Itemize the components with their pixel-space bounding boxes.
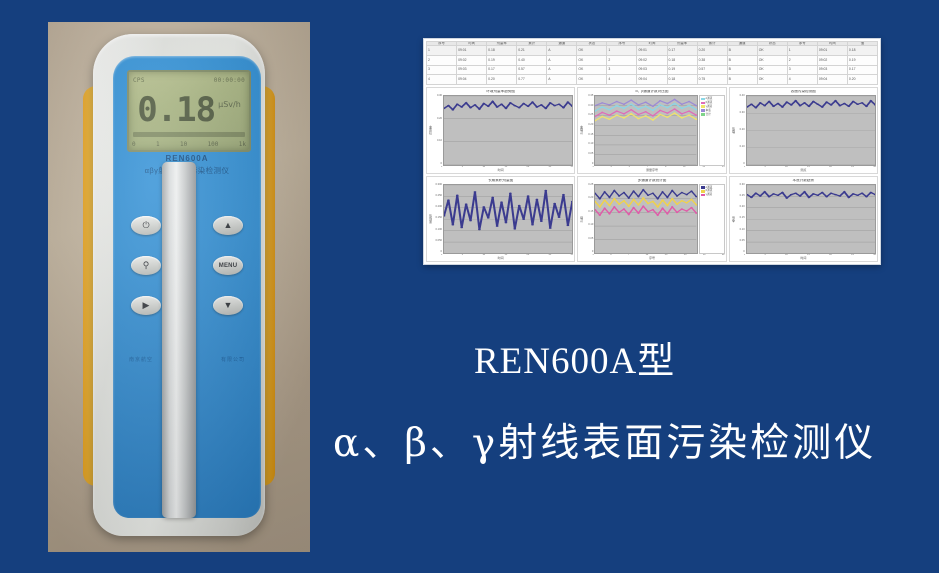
- chart-y-tick: 0.200: [433, 206, 442, 209]
- table-cell: 4: [607, 75, 637, 85]
- chart-y-tick: 0.15: [584, 211, 593, 214]
- handheld-detector: CPS 00:00:00 0.18 μSv/h 01101001k REN600…: [85, 34, 273, 536]
- table-cell: OK: [577, 56, 607, 66]
- chart-data-point: [785, 197, 788, 199]
- table-cell: 09:02: [457, 56, 487, 66]
- chart-x-axis-label: 测量序号: [578, 169, 725, 173]
- chart-data-point: [681, 200, 683, 202]
- slide-background: CPS 00:00:00 0.18 μSv/h 01101001k REN600…: [0, 0, 939, 573]
- chart-legend-item: 合计: [701, 113, 723, 117]
- table-cell: 0.18: [847, 46, 877, 56]
- chart-data-point: [599, 214, 601, 216]
- table-cell: 0.19: [487, 56, 517, 66]
- chart-data-point: [623, 108, 625, 110]
- chart-legend: α通道β通道γ通道: [699, 184, 725, 255]
- lcd-value: 0.18: [137, 93, 215, 127]
- table-cell: 2: [427, 56, 457, 66]
- chart-data-point: [609, 119, 611, 121]
- table-cell: 1: [607, 46, 637, 56]
- chart-y-tick: 0.10: [736, 229, 745, 232]
- chart-data-point: [645, 111, 647, 113]
- chart-data-point: [623, 208, 625, 210]
- table-cell: 0.17: [667, 46, 697, 56]
- chart-data-point: [825, 101, 828, 103]
- chart-data-point: [642, 197, 644, 199]
- chart-body: 计数0.250.200.150.100.050α通道β通道γ通道: [579, 184, 724, 255]
- chart-y-axis-label: 本底: [731, 184, 736, 255]
- chart-data-point: [662, 199, 664, 201]
- chart-y-tick: 0.15: [584, 134, 593, 137]
- table-cell: B: [727, 56, 757, 66]
- menu-button[interactable]: MENU: [213, 256, 243, 275]
- chart-data-point: [798, 195, 801, 197]
- chart-data-point: [638, 204, 640, 206]
- chart-data-point: [843, 103, 846, 105]
- chart-data-point: [829, 192, 832, 194]
- chart-x-axis-label: 序号: [578, 257, 725, 261]
- chart-data-point: [522, 218, 525, 220]
- chart-data-point: [759, 102, 762, 104]
- triangle-up-icon: ▲: [224, 221, 233, 230]
- lcd-scale: 01101001k: [132, 139, 246, 149]
- chart-y-tick: 0.20: [433, 118, 442, 121]
- chart-panel: 表面污染检测图数值0.400.300.200.100151015202530测点: [729, 87, 878, 174]
- chart-data-point: [638, 118, 640, 120]
- chart-data-point: [642, 205, 644, 207]
- chart-data-point: [667, 112, 669, 114]
- chart-data-point: [487, 217, 490, 219]
- chart-data-point: [816, 194, 819, 196]
- chart-data-point: [478, 108, 481, 110]
- chart-data-point: [447, 199, 450, 201]
- chart-y-tick: 0.150: [433, 217, 442, 220]
- chart-data-point: [851, 193, 854, 195]
- chart-data-point: [657, 206, 659, 208]
- lcd-status-right: 00:00:00: [214, 77, 245, 84]
- product-description-title: α、β、γ射线表面污染检测仪: [333, 412, 876, 468]
- down-button[interactable]: ▼: [213, 296, 243, 315]
- chart-data-point: [540, 220, 543, 222]
- chart-data-point: [750, 196, 753, 198]
- chart-data-point: [759, 195, 762, 197]
- table-cell: A: [547, 65, 577, 75]
- table-row[interactable]: 209:020.190.40AOK209:020.180.38BOK209:02…: [427, 56, 878, 66]
- chart-data-point: [688, 101, 690, 103]
- chart-data-point: [562, 193, 565, 195]
- table-cell: 0.38: [697, 56, 727, 66]
- chart-data-point: [616, 110, 618, 112]
- table-cell: OK: [757, 65, 787, 75]
- chart-y-tick: 0.300: [433, 184, 442, 187]
- table-cell: 0.20: [487, 75, 517, 85]
- chart-data-point: [540, 104, 543, 106]
- chart-data-point: [601, 112, 603, 114]
- chart-data-point: [478, 228, 481, 230]
- chart-data-point: [638, 104, 640, 106]
- chart-data-point: [652, 115, 654, 117]
- chart-data-point: [609, 114, 611, 116]
- chart-y-tick: 0.30: [736, 112, 745, 115]
- chart-data-point: [447, 105, 450, 107]
- chart-data-point: [659, 100, 661, 102]
- chart-data-point: [500, 103, 503, 105]
- chart-data-point: [469, 107, 472, 109]
- chart-data-point: [662, 191, 664, 193]
- chart-data-point: [681, 113, 683, 115]
- key-button[interactable]: ⚲: [131, 256, 161, 275]
- data-table: 序号时间剂量率累计通道状态序号时间剂量率累计通道状态序号时间值 109:010.…: [426, 41, 878, 85]
- table-row[interactable]: 409:040.200.77AOK409:040.180.75BOK409:04…: [427, 75, 878, 85]
- chart-data-point: [645, 106, 647, 108]
- table-cell: 0.57: [697, 65, 727, 75]
- table-cell: 0.17: [847, 65, 877, 75]
- chart-data-point: [509, 192, 512, 194]
- chart-panel: 环境剂量率趋势图剂量率0.300.200.100151015202530时间: [426, 87, 575, 174]
- chart-data-point: [482, 103, 485, 105]
- chart-data-point: [789, 104, 792, 106]
- chart-svg: [747, 96, 875, 165]
- chart-data-point: [630, 103, 632, 105]
- chart-data-point: [496, 225, 499, 227]
- chart-data-point: [750, 103, 753, 105]
- chart-data-point: [869, 191, 872, 193]
- table-cell: 2: [607, 56, 637, 66]
- power-button[interactable]: ⏻: [131, 216, 161, 235]
- chart-data-point: [614, 189, 616, 191]
- chart-data-point: [645, 101, 647, 103]
- chart-data-point: [671, 206, 673, 208]
- chart-data-point: [647, 202, 649, 204]
- chart-data-point: [834, 193, 837, 195]
- chart-body: 累积值0.3000.2500.2000.1500.1000.0500: [428, 184, 573, 255]
- chart-y-tick: 0.25: [584, 114, 593, 117]
- chart-data-point: [527, 106, 530, 108]
- chart-data-point: [772, 193, 775, 195]
- software-screenshot: 序号时间剂量率累计通道状态序号时间剂量率累计通道状态序号时间值 109:010.…: [423, 38, 881, 265]
- chart-data-point: [820, 106, 823, 108]
- chart-data-point: [659, 114, 661, 116]
- chart-data-point: [505, 108, 508, 110]
- chart-y-tick: 0.05: [584, 153, 593, 156]
- chart-y-tick: 0.05: [736, 240, 745, 243]
- table-cell: OK: [757, 56, 787, 66]
- chart-data-point: [676, 203, 678, 205]
- table-cell: 3: [427, 65, 457, 75]
- table-cell: A: [547, 56, 577, 66]
- chart-data-point: [474, 191, 477, 193]
- fineprint-right: 有限公司: [221, 356, 245, 363]
- chart-data-point: [781, 191, 784, 193]
- chart-data-point: [688, 114, 690, 116]
- chart-y-axis-label: 数值: [731, 95, 736, 166]
- lcd-reading: 0.18 μSv/h: [129, 88, 249, 132]
- chart-data-point: [869, 100, 872, 102]
- product-model-title: REN600A型: [474, 330, 675, 384]
- chart-plot-area: [443, 95, 573, 166]
- chart-data-point: [794, 192, 797, 194]
- chart-data-point: [829, 104, 832, 106]
- chart-data-point: [518, 204, 521, 206]
- chart-data-point: [812, 193, 815, 195]
- table-cell: 1: [787, 46, 817, 56]
- chart-data-point: [860, 102, 863, 104]
- chart-plot-area: [443, 184, 573, 255]
- chart-data-point: [816, 103, 819, 105]
- chart-panel: α、β通道计数对比图计数率0.350.300.250.200.150.100.0…: [577, 87, 726, 174]
- table-cell: A: [547, 75, 577, 85]
- chart-y-tick: 0.20: [736, 129, 745, 132]
- chart-data-point: [647, 194, 649, 196]
- chart-data-point: [686, 202, 688, 204]
- chart-data-point: [807, 196, 810, 198]
- chart-data-point: [465, 102, 468, 104]
- chart-y-tick: 0.100: [433, 229, 442, 232]
- chart-body: 本底0.300.250.200.150.100.050: [731, 184, 876, 255]
- table-cell: 0.77: [517, 75, 547, 85]
- chart-data-point: [544, 189, 547, 191]
- chart-data-point: [536, 198, 539, 200]
- chart-data-point: [604, 207, 606, 209]
- chart-data-point: [491, 196, 494, 198]
- chart-data-point: [652, 110, 654, 112]
- chart-data-point: [674, 103, 676, 105]
- chart-data-point: [474, 104, 477, 106]
- chart-data-point: [531, 223, 534, 225]
- chart-data-point: [509, 102, 512, 104]
- table-cell: 0.18: [487, 46, 517, 56]
- chart-data-point: [496, 106, 499, 108]
- chart-series-line: [444, 101, 572, 109]
- lcd-bargraph: [133, 132, 245, 137]
- chart-data-point: [686, 210, 688, 212]
- chart-y-tick: 0.10: [736, 146, 745, 149]
- up-button[interactable]: ▲: [213, 216, 243, 235]
- chart-data-point: [527, 195, 530, 197]
- chart-y-tick: 0.30: [433, 95, 442, 98]
- chart-body: 计数率0.350.300.250.200.150.100.050α通道β通道γ通…: [579, 95, 724, 166]
- table-cell: A: [547, 46, 577, 56]
- chart-data-point: [674, 108, 676, 110]
- table-body: 109:010.180.21AOK109:010.170.20BOK109:01…: [427, 46, 878, 85]
- table-cell: B: [727, 75, 757, 85]
- chart-data-point: [691, 206, 693, 208]
- chart-data-point: [638, 114, 640, 116]
- lcd-scale-tick: 0: [132, 141, 136, 148]
- chart-data-point: [667, 103, 669, 105]
- chart-data-point: [451, 223, 454, 225]
- chart-plot-area: [594, 184, 697, 255]
- chart-data-point: [460, 106, 463, 108]
- chart-data-point: [609, 204, 611, 206]
- chart-data-point: [785, 101, 788, 103]
- chart-plot-area: [746, 184, 876, 255]
- chart-y-axis-label: 计数率: [579, 95, 584, 166]
- chart-data-point: [513, 105, 516, 107]
- chart-data-point: [763, 191, 766, 193]
- chart-data-point: [536, 106, 539, 108]
- chart-data-point: [856, 194, 859, 196]
- chart-data-point: [681, 191, 683, 193]
- chart-legend-swatch: [701, 194, 705, 197]
- chart-data-point: [767, 195, 770, 197]
- chart-data-point: [865, 106, 868, 108]
- chart-data-point: [469, 219, 472, 221]
- chart-data-point: [754, 107, 757, 109]
- chart-y-ticks: 0.250.200.150.100.050: [584, 184, 594, 255]
- chart-data-point: [460, 226, 463, 228]
- chart-data-point: [505, 221, 508, 223]
- chart-svg: [595, 96, 696, 165]
- chart-y-tick: 0.25: [584, 184, 593, 187]
- chart-data-point: [553, 105, 556, 107]
- chart-data-point: [676, 195, 678, 197]
- chart-legend-swatch: [701, 109, 705, 112]
- table-row[interactable]: 309:030.170.57AOK309:030.190.57BOK309:03…: [427, 65, 878, 75]
- table-cell: 09:03: [457, 65, 487, 75]
- chart-data-point: [652, 208, 654, 210]
- table-cell: OK: [577, 65, 607, 75]
- chart-grid: 环境剂量率趋势图剂量率0.300.200.100151015202530时间α、…: [426, 87, 878, 262]
- chart-y-tick: 0.20: [584, 197, 593, 200]
- chart-x-axis-label: 时间: [427, 257, 574, 261]
- chart-data-point: [754, 192, 757, 194]
- chart-y-tick: 0.40: [736, 95, 745, 98]
- chart-body: 数值0.400.300.200.100: [731, 95, 876, 166]
- chart-data-point: [562, 107, 565, 109]
- lcd-scale-tick: 1k: [239, 141, 246, 148]
- chart-data-point: [616, 101, 618, 103]
- chart-data-point: [676, 211, 678, 213]
- chart-data-point: [671, 189, 673, 191]
- chart-data-point: [667, 116, 669, 118]
- play-button[interactable]: ▶: [131, 296, 161, 315]
- triangle-down-icon: ▼: [224, 301, 233, 310]
- chart-data-point: [544, 108, 547, 110]
- table-cell: 0.19: [847, 56, 877, 66]
- chart-data-point: [451, 109, 454, 111]
- chart-data-point: [513, 228, 516, 230]
- chart-y-ticks: 0.400.300.200.100: [736, 95, 746, 166]
- chart-panel: 本底计数趋势本底0.300.250.200.150.100.0501510152…: [729, 176, 878, 263]
- chart-data-point: [614, 206, 616, 208]
- chart-data-point: [838, 105, 841, 107]
- chart-plot-area: [746, 95, 876, 166]
- chart-data-point: [772, 106, 775, 108]
- table-cell: 2: [787, 56, 817, 66]
- table-cell: 0.21: [517, 46, 547, 56]
- chart-y-ticks: 0.300.200.100: [433, 95, 443, 166]
- chart-legend-item: γ通道: [701, 193, 723, 197]
- chart-svg: [747, 185, 875, 254]
- chart-data-point: [487, 106, 490, 108]
- chart-data-point: [571, 200, 572, 202]
- device-photo: CPS 00:00:00 0.18 μSv/h 01101001k REN600…: [48, 22, 310, 552]
- chart-data-point: [865, 195, 868, 197]
- chart-data-point: [633, 198, 635, 200]
- chart-data-point: [604, 191, 606, 193]
- chart-legend-label: 合计: [706, 113, 711, 117]
- table-cell: OK: [757, 75, 787, 85]
- table-row[interactable]: 109:010.180.21AOK109:010.170.20BOK109:01…: [427, 46, 878, 56]
- chart-data-point: [803, 191, 806, 193]
- chart-data-point: [645, 115, 647, 117]
- chart-data-point: [633, 190, 635, 192]
- chart-data-point: [500, 201, 503, 203]
- chart-data-point: [688, 105, 690, 107]
- chart-data-point: [623, 191, 625, 193]
- chart-y-ticks: 0.3000.2500.2000.1500.1000.0500: [433, 184, 443, 255]
- table-cell: B: [727, 46, 757, 56]
- table-cell: 0.18: [667, 56, 697, 66]
- chart-data-point: [647, 210, 649, 212]
- chart-data-point: [674, 99, 676, 101]
- table-cell: 0.75: [697, 75, 727, 85]
- chart-data-point: [609, 104, 611, 106]
- chart-data-point: [549, 102, 552, 104]
- chart-data-point: [847, 196, 850, 198]
- chart-data-point: [838, 195, 841, 197]
- table-cell: 09:03: [817, 65, 847, 75]
- chart-y-tick: 0.25: [736, 195, 745, 198]
- chart-data-point: [652, 200, 654, 202]
- chart-y-tick: 0.30: [584, 105, 593, 108]
- table-cell: 0.20: [847, 75, 877, 85]
- table-cell: 09:04: [637, 75, 667, 85]
- chart-data-point: [616, 105, 618, 107]
- chart-data-point: [803, 102, 806, 104]
- chart-data-point: [456, 194, 459, 196]
- chart-y-axis-label: 累积值: [428, 184, 433, 255]
- table-cell: 09:01: [637, 46, 667, 56]
- chart-data-point: [623, 117, 625, 119]
- chart-y-tick: 0.050: [433, 240, 442, 243]
- chart-y-tick: 0.20: [584, 124, 593, 127]
- chart-data-point: [618, 195, 620, 197]
- chart-data-point: [652, 192, 654, 194]
- chart-data-point: [681, 103, 683, 105]
- chart-plot-area: [594, 95, 697, 166]
- chart-data-point: [767, 101, 770, 103]
- chart-data-point: [659, 104, 661, 106]
- chart-data-point: [623, 200, 625, 202]
- chart-panel: 长期累积剂量图累积值0.3000.2500.2000.1500.1000.050…: [426, 176, 575, 263]
- chart-data-point: [465, 203, 468, 205]
- chart-data-point: [618, 203, 620, 205]
- table-cell: OK: [757, 46, 787, 56]
- chart-data-point: [623, 103, 625, 105]
- chart-y-tick: 0.35: [584, 95, 593, 98]
- chart-y-tick: 0.10: [584, 143, 593, 146]
- chart-data-point: [789, 193, 792, 195]
- chart-data-point: [834, 100, 837, 102]
- chart-data-point: [776, 103, 779, 105]
- chart-data-point: [558, 216, 561, 218]
- chart-y-tick: 0.10: [584, 224, 593, 227]
- lcd-display: CPS 00:00:00 0.18 μSv/h 01101001k: [127, 70, 251, 152]
- chart-data-point: [847, 106, 850, 108]
- chart-data-point: [856, 103, 859, 105]
- chart-x-axis-label: 时间: [730, 257, 877, 261]
- chart-data-point: [860, 192, 863, 194]
- chart-data-point: [686, 193, 688, 195]
- chart-data-point: [781, 106, 784, 108]
- chart-legend-swatch: [701, 98, 705, 101]
- chart-data-point: [642, 189, 644, 191]
- chart-data-point: [820, 191, 823, 193]
- chart-legend-swatch: [701, 190, 705, 193]
- chart-data-point: [522, 103, 525, 105]
- chart-data-point: [628, 197, 630, 199]
